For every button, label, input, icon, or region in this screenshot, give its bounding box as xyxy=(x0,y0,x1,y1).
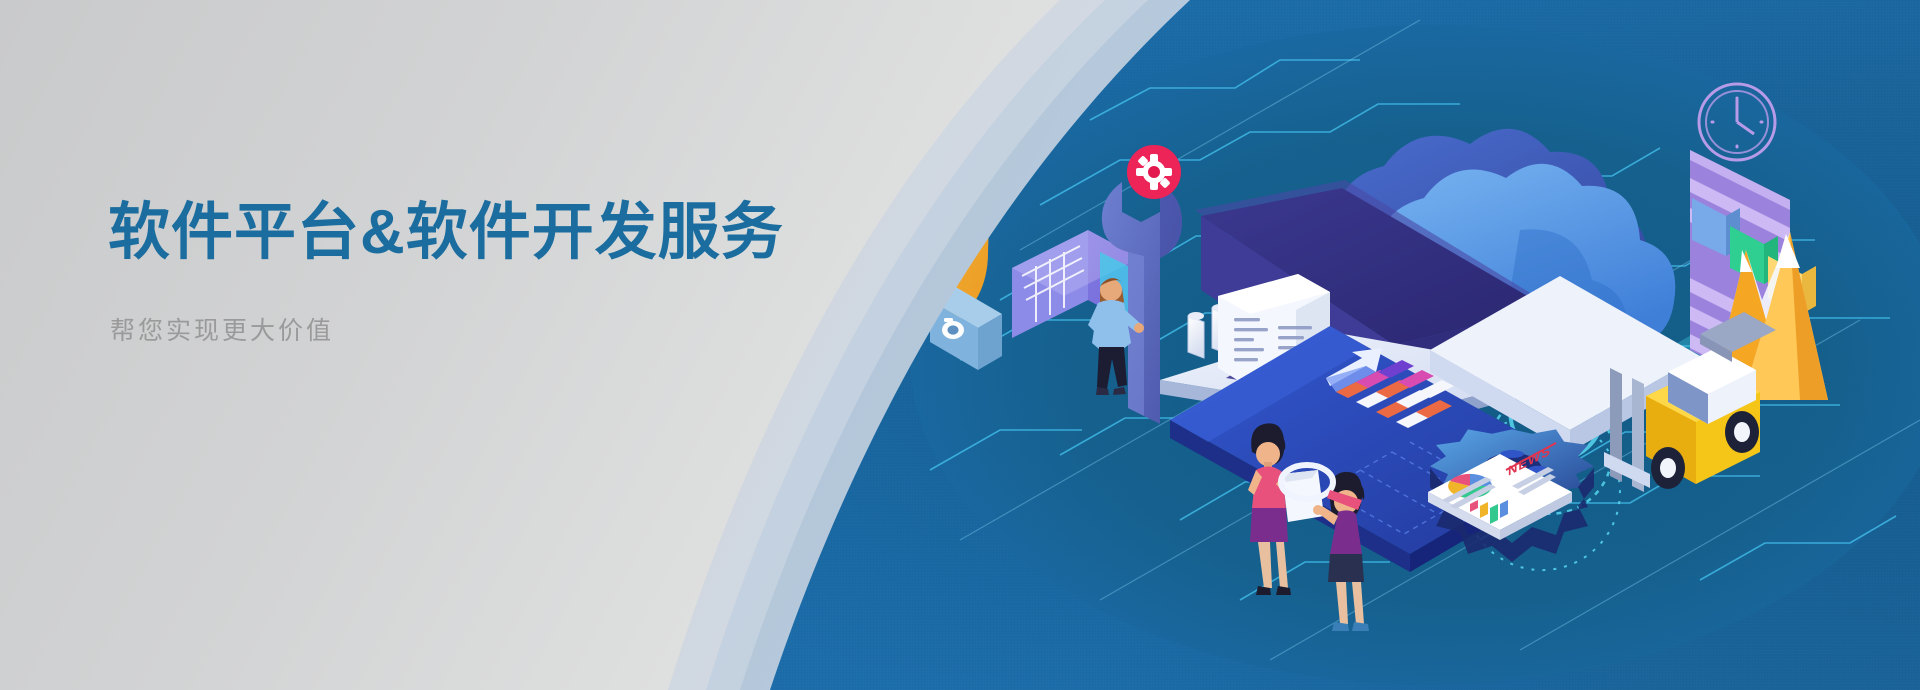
gear-badge-icon xyxy=(1127,145,1181,199)
page-title: 软件平台&软件开发服务 xyxy=(108,196,868,269)
page-subtitle: 帮您实现更大价值 xyxy=(110,311,868,347)
banner-copy: 软件平台&软件开发服务 帮您实现更大价值 xyxy=(108,196,868,347)
hero-banner: NEWS xyxy=(0,0,1920,690)
